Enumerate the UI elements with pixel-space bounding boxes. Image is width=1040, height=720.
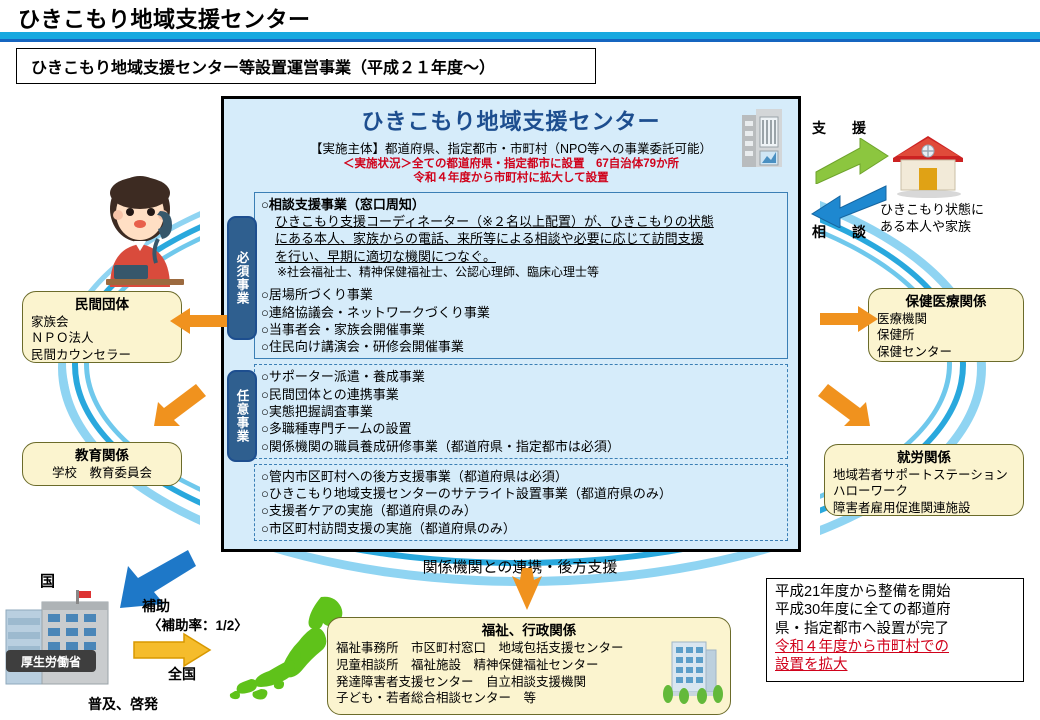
side-box-title: 保健医療関係 bbox=[877, 293, 1015, 311]
center-status-line-2: 令和４年度から市町村に拡大して設置 bbox=[224, 171, 798, 185]
side-box-hoken: 保健医療関係 医療機関 保健所 保健センター bbox=[868, 288, 1024, 362]
house-icon bbox=[885, 132, 971, 198]
orange-arrow-down-left-to-kyoiku-icon bbox=[150, 382, 212, 430]
note-line-highlight: 設置を拡大 bbox=[775, 656, 1017, 674]
subtitle-box: ひきこもり地域支援センター等設置運営事業（平成２１年度～） bbox=[16, 48, 596, 84]
required-body-line-1: ひきこもり支援コーディネーター（※２名以上配置）が、ひきこもりの状態 bbox=[261, 213, 781, 230]
support-label: 支 援 bbox=[812, 118, 872, 138]
target-person-label: ひきこもり状態に ある本人や家族 bbox=[880, 202, 984, 235]
subsidy-rate-label: 〈補助率：1/2〉 bbox=[148, 614, 248, 634]
subtitle-text: ひきこもり地域支援センター等設置運営事業（平成２１年度～） bbox=[17, 54, 495, 78]
center-panel-title: ひきこもり地域支援センター bbox=[224, 104, 798, 136]
side-box-shuro: 就労関係 地域若者サポートステーション ハローワーク 障害者雇用促進関連施設 bbox=[824, 444, 1024, 516]
side-box-title: 就労関係 bbox=[833, 449, 1015, 467]
side-box-line: 障害者雇用促進関連施設 bbox=[833, 500, 1015, 516]
optional-item: ○関係機関の職員養成研修事業（都道府県・指定都市は必須） bbox=[261, 438, 781, 455]
target-person-line-1: ひきこもり状態に bbox=[880, 202, 984, 219]
person-on-phone-icon bbox=[88, 175, 200, 293]
side-box-title: 民間団体 bbox=[31, 296, 173, 314]
required-item: ○住民向け講演会・研修会開催事業 bbox=[261, 338, 781, 355]
side-box-line: 民間カウンセラー bbox=[31, 347, 173, 363]
diagram-page: ひきこもり地域支援センター ひきこもり地域支援センター等設置運営事業（平成２１年… bbox=[0, 0, 1040, 720]
orange-arrow-down-right-to-shuro-icon bbox=[812, 382, 874, 430]
required-item: ○居場所づくり事業 bbox=[261, 286, 781, 303]
note-line-highlight: 令和４年度から市町村での bbox=[775, 638, 1017, 656]
extra-item: ○支援者ケアの実施（都道府県のみ） bbox=[261, 502, 781, 519]
target-person-line-2: ある本人や家族 bbox=[880, 219, 984, 236]
side-box-kyoiku: 教育関係 学校 教育委員会 bbox=[22, 442, 182, 486]
side-box-line: 地域若者サポートステーション bbox=[833, 467, 1015, 483]
side-box-line: 保健所 bbox=[877, 327, 1015, 343]
optional-item: ○実態把握調査事業 bbox=[261, 403, 781, 420]
page-title: ひきこもり地域支援センター bbox=[18, 2, 311, 34]
optional-business-tab: 任意事業 bbox=[227, 370, 257, 462]
side-box-fukushi: 福祉、行政関係 福祉事務所 市区町村窓口 地域包括支援センター 児童相談所 福祉… bbox=[327, 617, 731, 715]
note-line: 平成21年度から整備を開始 bbox=[775, 583, 1017, 601]
side-box-line: ＮＰＯ法人 bbox=[31, 330, 173, 346]
extra-item: ○管内市区町村への後方支援事業（都道府県は必須） bbox=[261, 468, 781, 485]
side-box-line: ハローワーク bbox=[833, 483, 1015, 499]
side-box-line: 家族会 bbox=[31, 314, 173, 330]
main-center-panel: ひきこもり地域支援センター 【実施主体】都道府県、指定都市・市町村（NPO等への… bbox=[221, 96, 801, 552]
note-line: 県・指定都市へ設置が完了 bbox=[775, 620, 1017, 638]
optional-item: ○サポーター派遣・養成事業 bbox=[261, 368, 781, 385]
required-heading: ○相談支援事業（窓口周知） bbox=[261, 196, 781, 214]
required-note: ※社会福祉士、精神保健福祉士、公認心理師、臨床心理士等 bbox=[261, 265, 781, 281]
center-status-line-1: ＜実施状況＞全ての都道府県・指定都市に設置 67自治体79か所 bbox=[224, 157, 798, 171]
required-business-block: ○相談支援事業（窓口周知） ひきこもり支援コーディネーター（※２名以上配置）が、… bbox=[254, 192, 788, 360]
required-body-line-3: を行い、早期に適切な機関につなぐ。 bbox=[261, 248, 781, 265]
side-box-minkan: 民間団体 家族会 ＮＰＯ法人 民間カウンセラー bbox=[22, 291, 182, 363]
green-arrow-left-icon bbox=[812, 138, 890, 184]
history-note-box: 平成21年度から整備を開始 平成30年度に全ての都道府 県・指定都市へ設置が完了… bbox=[766, 578, 1024, 682]
nationwide-label: 全国 bbox=[168, 664, 196, 684]
side-box-line: 学校 教育委員会 bbox=[31, 465, 173, 481]
required-body-line-2: にある本人、家族からの電話、来所等による相談や必要に応じて訪問支援 bbox=[261, 230, 781, 247]
extra-item: ○ひきこもり地域支援センターのサテライト設置事業（都道府県のみ） bbox=[261, 485, 781, 502]
government-building-icon bbox=[4, 588, 112, 688]
extra-item: ○市区町村訪問支援の実施（都道府県のみ） bbox=[261, 520, 781, 537]
note-line: 平成30年度に全ての都道府 bbox=[775, 601, 1017, 619]
ministry-name-plate: 厚生労働省 bbox=[6, 650, 96, 672]
required-item: ○連絡協議会・ネットワークづくり事業 bbox=[261, 304, 781, 321]
optional-item: ○民間団体との連携事業 bbox=[261, 386, 781, 403]
side-box-line: 保健センター bbox=[877, 344, 1015, 360]
orange-arrow-left-to-minkan-icon bbox=[168, 306, 230, 336]
required-item: ○当事者会・家族会開催事業 bbox=[261, 321, 781, 338]
required-business-tab: 必須事業 bbox=[227, 216, 257, 340]
blue-arrow-left-icon bbox=[810, 182, 890, 228]
optional-business-block: ○サポーター派遣・養成事業 ○民間団体との連携事業 ○実態把握調査事業 ○多職種… bbox=[254, 364, 788, 458]
orange-arrow-right-icon bbox=[132, 632, 212, 668]
side-box-line: 医療機関 bbox=[877, 311, 1015, 327]
office-building-icon bbox=[738, 107, 788, 169]
extra-business-block: ○管内市区町村への後方支援事業（都道府県は必須） ○ひきこもり地域支援センターの… bbox=[254, 464, 788, 541]
orange-arrow-right-to-hoken-icon bbox=[818, 304, 880, 334]
optional-item: ○多職種専門チームの設置 bbox=[261, 420, 781, 437]
header-divider bbox=[0, 32, 1040, 39]
welfare-building-icon bbox=[660, 634, 724, 708]
side-box-title: 教育関係 bbox=[31, 447, 173, 465]
country-label: 国 bbox=[40, 570, 55, 591]
subsidy-label: 補助 bbox=[142, 596, 170, 616]
center-panel-subject: 【実施主体】都道府県、指定都市・市町村（NPO等への事業委託可能） bbox=[224, 138, 798, 157]
orange-arrow-down-to-fukushi-icon bbox=[510, 566, 544, 612]
dissemination-label: 普及、啓発 bbox=[88, 694, 158, 714]
